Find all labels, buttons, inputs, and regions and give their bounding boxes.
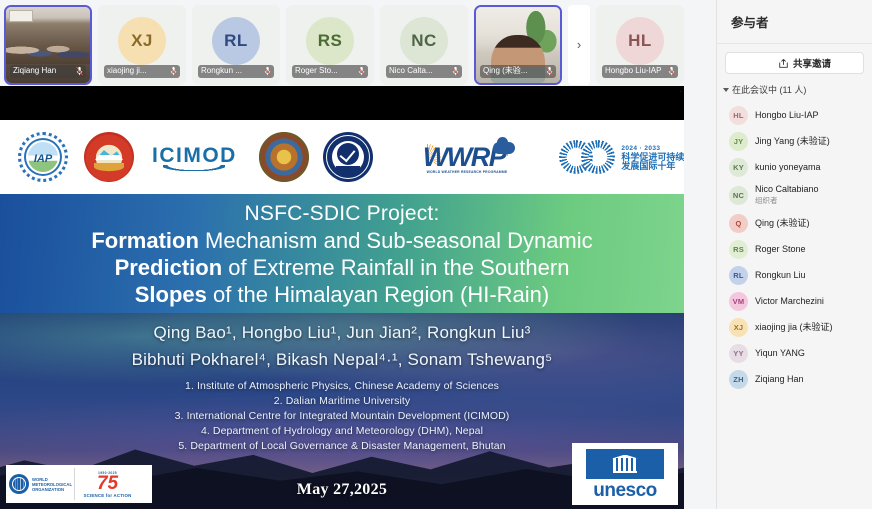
title-line-2-rest: of Extreme Rainfall in the Southern	[222, 255, 569, 280]
thumbnail-name-bar: Nico Calta...	[386, 65, 462, 78]
stage-right-gutter	[684, 86, 716, 509]
authors-line-2: Bibhuti Pokharel⁴, Bikash Nepal⁴·¹, Sona…	[0, 346, 684, 373]
avatar: XJ	[729, 318, 748, 337]
mic-muted-icon	[76, 66, 83, 76]
thumbnail-name-bar: Qing (未验...	[480, 65, 556, 78]
unesco-wordmark: unesco	[593, 481, 657, 500]
avatar: KY	[729, 158, 748, 177]
zoom-meeting-window: Ziqiang Han XJ xiaojing ji... RL Rongkun…	[0, 0, 872, 509]
iap-logo: IAP	[18, 132, 68, 182]
project-name: NSFC-SDIC Project:	[245, 200, 440, 227]
thumbnail-name: Rongkun ...	[201, 65, 262, 77]
participant-row[interactable]: HL Hongbo Liu-IAP	[717, 102, 872, 128]
chevron-right-icon: ›	[577, 37, 581, 52]
wmo-line-2: METEOROLOGICAL	[32, 482, 72, 487]
participant-name: Nico Caltabiano	[755, 183, 819, 195]
filmstrip-next-button[interactable]: ›	[568, 5, 590, 85]
participant-name: Yiqun YANG	[755, 347, 805, 359]
thumbnail-name: xiaojing ji...	[107, 65, 168, 77]
thumbnail-tile[interactable]: RL Rongkun ...	[192, 5, 280, 85]
affiliation-item: 4. Department of Hydrology and Meteorolo…	[0, 424, 684, 439]
meeting-stage: Ziqiang Han XJ xiaojing ji... RL Rongkun…	[0, 0, 716, 509]
title-line-2-bold: Prediction	[115, 255, 223, 280]
thumbnail-tile[interactable]: HL Hongbo Liu-IAP	[596, 5, 684, 85]
globe-icon	[9, 474, 29, 494]
thumbnail-name: Nico Calta...	[389, 65, 450, 77]
participant-row[interactable]: JY Jing Yang (未验证)	[717, 128, 872, 154]
wwrp-logo: WWRP ′′′ WORLD WEATHER RESEARCH PROGRAMM…	[417, 142, 505, 173]
wmo-line-3: ORGANIZATION	[32, 487, 72, 492]
participant-row[interactable]: RL Rongkun Liu	[717, 262, 872, 288]
panel-title: 参与者	[731, 12, 769, 31]
participant-name: xiaojing jia (未验证)	[755, 321, 833, 333]
thumbnail-name-bar: Rongkun ...	[198, 65, 274, 78]
avatar: YY	[729, 344, 748, 363]
author-list: Qing Bao¹, Hongbo Liu¹, Jun Jian², Rongk…	[0, 319, 684, 373]
avatar: ZH	[729, 370, 748, 389]
bhutan-logo	[259, 132, 309, 182]
participant-row[interactable]: RS Roger Stone	[717, 236, 872, 262]
title-line-1-bold: Formation	[91, 228, 199, 253]
mic-muted-icon	[452, 66, 459, 76]
thumbnail-tile[interactable]: RS Roger Sto...	[286, 5, 374, 85]
participant-row[interactable]: VM Victor Marchezini	[717, 288, 872, 314]
avatar: JY	[729, 132, 748, 151]
avatar: RL	[212, 17, 260, 65]
chevron-down-icon	[723, 88, 729, 92]
participant-filmstrip: Ziqiang Han XJ xiaojing ji... RL Rongkun…	[0, 0, 716, 86]
cloud-icon	[493, 142, 515, 154]
share-invite-label: 共享邀请	[793, 56, 831, 70]
thumbnail-name: Ziqiang Han	[13, 65, 74, 77]
un-decade-logo: 2024 · 2033 科学促进可持续 发展国际十年	[559, 140, 684, 174]
participant-row[interactable]: ZH Ziqiang Han	[717, 366, 872, 392]
title-line-3: Slopes of the Himalayan Region (HI-Rain)	[135, 281, 550, 308]
participant-role: 组织者	[755, 195, 819, 207]
avatar: XJ	[118, 17, 166, 65]
raindrop-icon: ′′′	[502, 154, 509, 161]
avatar: RL	[729, 266, 748, 285]
title-line-3-bold: Slopes	[135, 282, 207, 307]
in-meeting-section-header[interactable]: 在此会议中 (11 人)	[717, 78, 872, 100]
mic-muted-icon	[546, 66, 553, 76]
thumbnail-tile[interactable]: XJ xiaojing ji...	[98, 5, 186, 85]
slide-logo-row: IAP ICIMOD WWRP	[0, 120, 684, 194]
avatar: NC	[400, 17, 448, 65]
avatar: RS	[306, 17, 354, 65]
icimod-logo: ICIMOD	[152, 144, 237, 171]
participant-name: Rongkun Liu	[755, 269, 806, 281]
avatar: VM	[729, 292, 748, 311]
in-meeting-count-label: 在此会议中 (11 人)	[732, 83, 806, 96]
thumbnail-name-bar: Ziqiang Han	[10, 65, 86, 78]
slide-letterbox-bar: ·	[0, 86, 684, 120]
icimod-wave-icon	[163, 165, 225, 171]
affiliation-item: 2. Dalian Maritime University	[0, 394, 684, 409]
participant-row[interactable]: Q Qing (未验证)	[717, 210, 872, 236]
avatar: HL	[729, 106, 748, 125]
shared-screen-slide[interactable]: · IAP ICIMOD	[0, 86, 684, 509]
title-line-1-rest: Mechanism and Sub-seasonal Dynamic	[199, 228, 593, 253]
share-invite-button[interactable]: 共享邀请	[725, 52, 864, 74]
thumbnail-name: Qing (未验...	[483, 65, 544, 77]
anniversary-tagline: SCIENCE for ACTION	[83, 493, 131, 498]
temple-icon	[586, 449, 664, 479]
avatar: Q	[729, 214, 748, 233]
thumbnail-tile[interactable]: Ziqiang Han	[4, 5, 92, 85]
dalian-maritime-logo	[323, 132, 373, 182]
title-line-2: Prediction of Extreme Rainfall in the So…	[115, 254, 570, 281]
nepal-dhm-logo	[84, 132, 134, 182]
bottom-left-logo-strip: WORLD METEOROLOGICAL ORGANIZATION 1950·2…	[6, 465, 152, 503]
anniversary-number: 75	[97, 475, 118, 493]
participant-row[interactable]: YY Yiqun YANG	[717, 340, 872, 366]
participant-name: Ziqiang Han	[755, 373, 804, 385]
participant-name: Hongbo Liu-IAP	[755, 109, 819, 121]
thumbnail-tile[interactable]: Qing (未验...	[474, 5, 562, 85]
title-line-3-rest: of the Himalayan Region (HI-Rain)	[207, 282, 549, 307]
participant-name: Jing Yang (未验证)	[755, 135, 830, 147]
unesco-logo: unesco	[572, 443, 678, 505]
participant-name: Qing (未验证)	[755, 217, 810, 229]
sunburst-icon	[559, 140, 615, 174]
avatar: RS	[729, 240, 748, 259]
mic-muted-icon	[358, 66, 365, 76]
title-line-1: Formation Mechanism and Sub-seasonal Dyn…	[91, 227, 592, 254]
thumbnail-name-bar: xiaojing ji...	[104, 65, 180, 78]
mic-muted-icon	[264, 66, 271, 76]
participant-row[interactable]: KY kunio yoneyama	[717, 154, 872, 180]
invite-button-wrap: 共享邀请	[717, 44, 872, 78]
wmo-logo: WORLD METEOROLOGICAL ORGANIZATION	[9, 474, 72, 494]
avatar: HL	[616, 17, 664, 65]
un-decade-line2: 发展国际十年	[621, 162, 684, 171]
participant-row[interactable]: NC Nico Caltabiano 组织者	[717, 180, 872, 210]
wmo-75-anniversary-logo: 1950·2025 75 SCIENCE for ACTION	[74, 468, 140, 500]
share-icon	[778, 58, 789, 69]
affiliation-item: 1. Institute of Atmospheric Physics, Chi…	[0, 379, 684, 394]
thumbnail-name: Hongbo Liu-IAP	[605, 65, 666, 77]
mic-muted-icon	[668, 66, 675, 76]
slide-title-banner: NSFC-SDIC Project: Formation Mechanism a…	[0, 194, 684, 313]
participant-name: Roger Stone	[755, 243, 806, 255]
participants-panel: 参与者 共享邀请 在此会议中 (11 人) HL Hongbo Liu-IAP …	[716, 0, 872, 509]
authors-line-1: Qing Bao¹, Hongbo Liu¹, Jun Jian², Rongk…	[0, 319, 684, 346]
participant-name: kunio yoneyama	[755, 161, 821, 173]
thumbnail-tile[interactable]: NC Nico Calta...	[380, 5, 468, 85]
avatar: NC	[729, 186, 748, 205]
participants-panel-header: 参与者	[717, 0, 872, 44]
thumbnail-name: Roger Sto...	[295, 65, 356, 77]
participant-name: Victor Marchezini	[755, 295, 824, 307]
mic-muted-icon	[170, 66, 177, 76]
thumbnail-name-bar: Hongbo Liu-IAP	[602, 65, 678, 78]
participant-list[interactable]: HL Hongbo Liu-IAP JY Jing Yang (未验证) KY …	[717, 100, 872, 509]
wwrp-subtitle: WORLD WEATHER RESEARCH PROGRAMME	[427, 170, 508, 174]
thumbnail-name-bar: Roger Sto...	[292, 65, 368, 78]
slide-photo-background: Qing Bao¹, Hongbo Liu¹, Jun Jian², Rongk…	[0, 313, 684, 509]
participant-row[interactable]: XJ xiaojing jia (未验证)	[717, 314, 872, 340]
affiliation-item: 3. International Centre for Integrated M…	[0, 409, 684, 424]
